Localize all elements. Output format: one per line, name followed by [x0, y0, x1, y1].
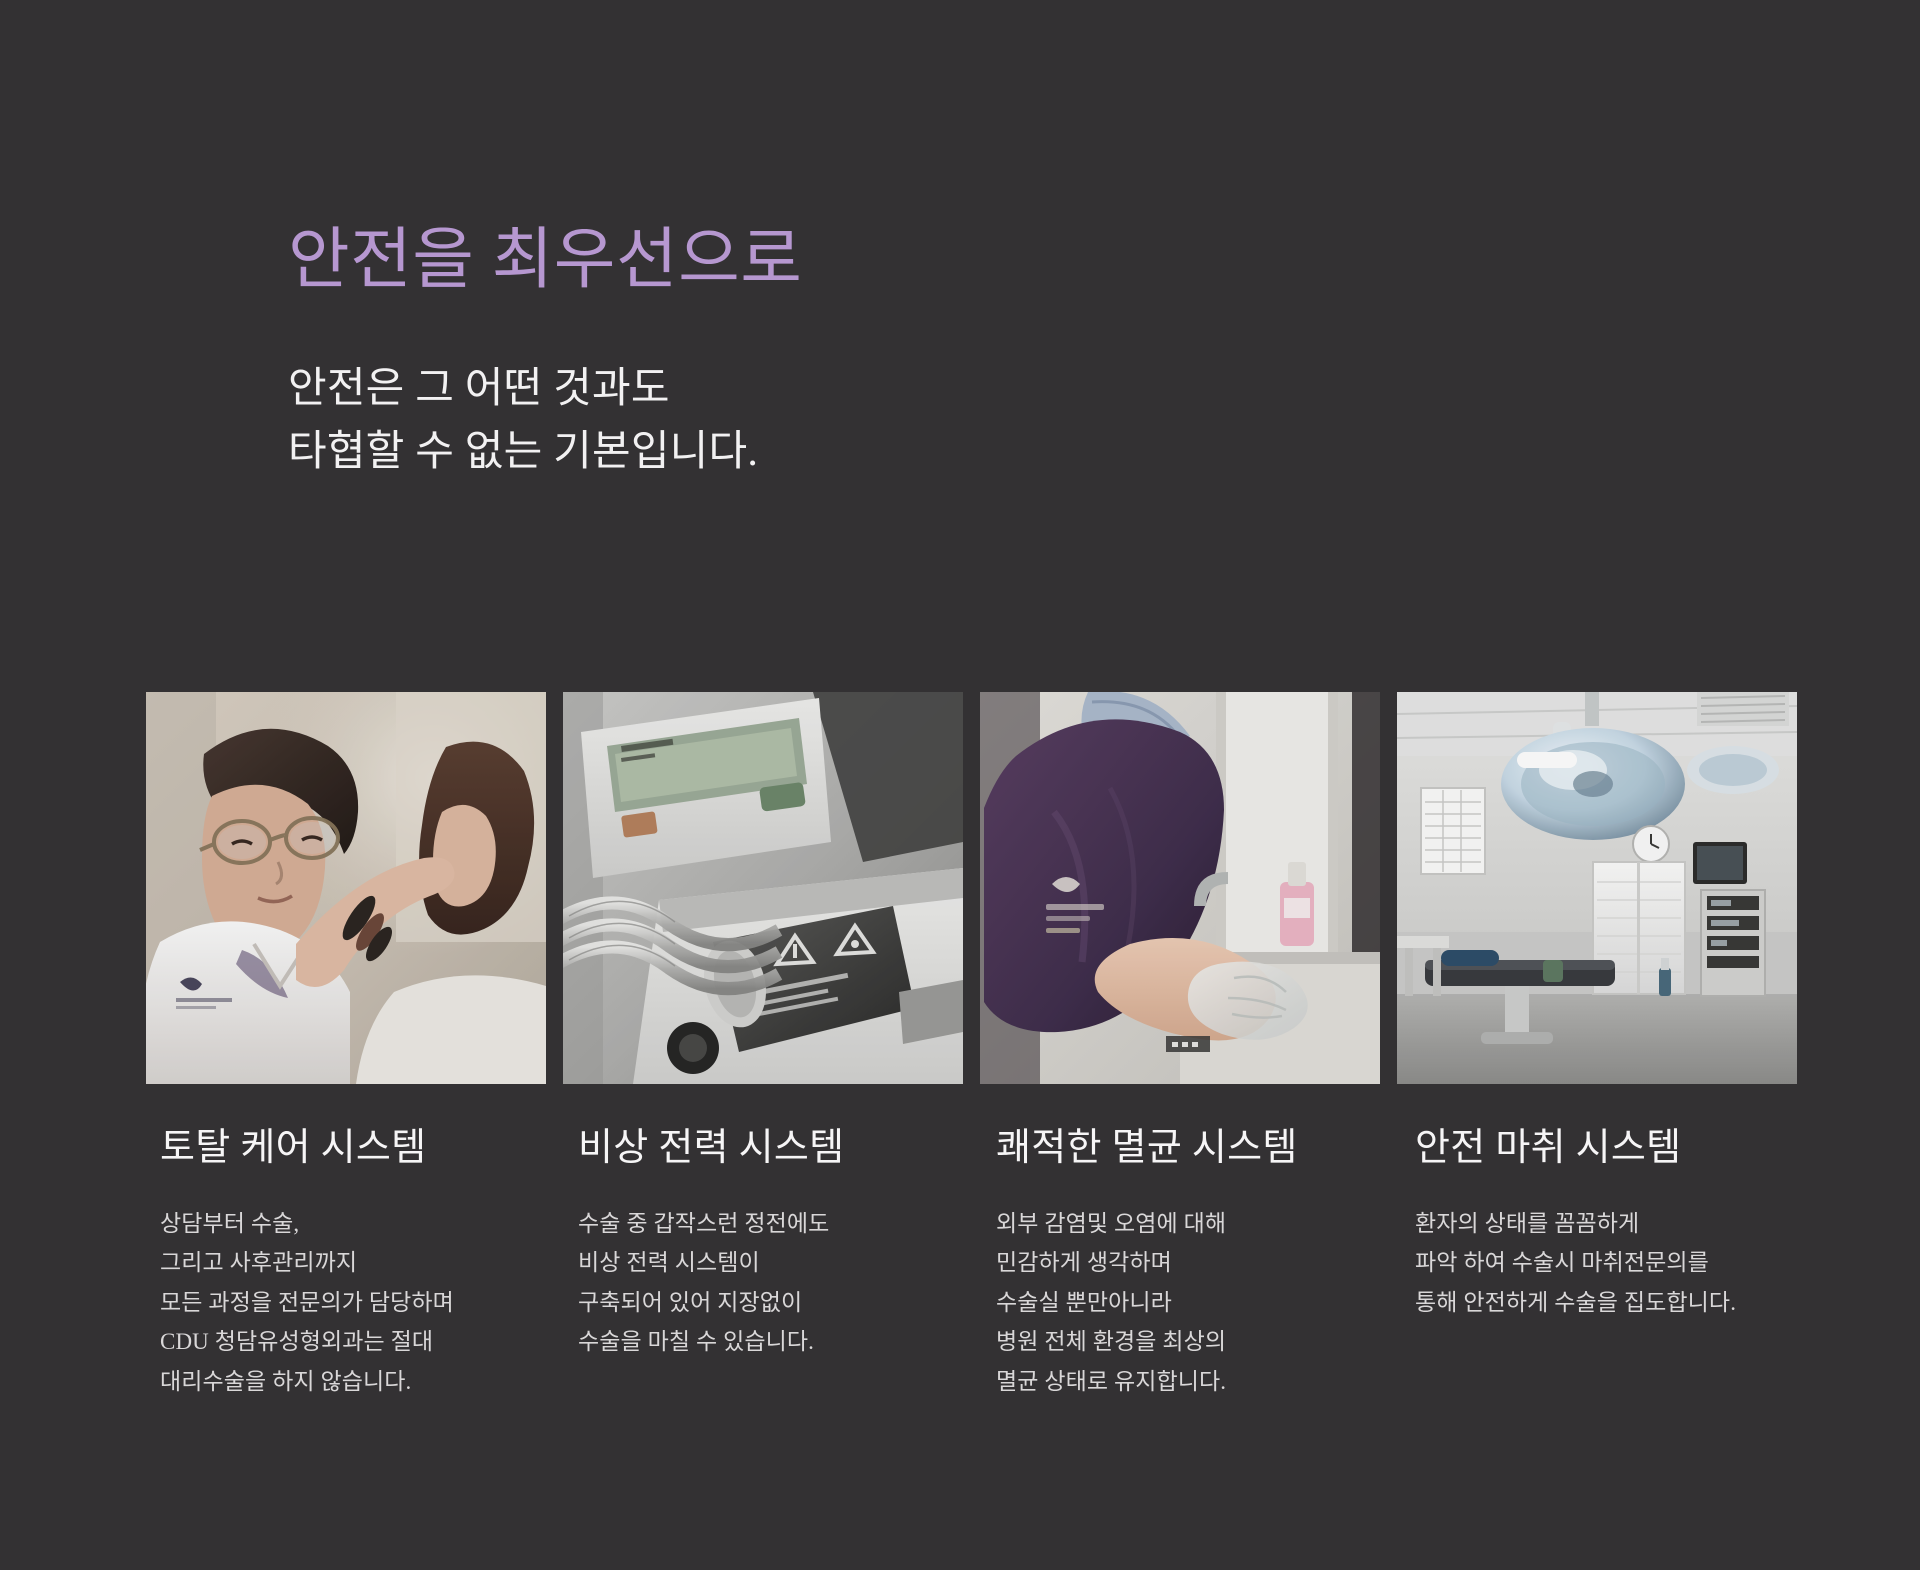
card-body-line: CDU 청담유성형외과는 절대: [160, 1322, 546, 1362]
safety-section-page: 안전을 최우선으로 안전은 그 어떤 것과도 타협할 수 없는 기본입니다.: [0, 0, 1920, 1570]
doctor-consultation-photo: [146, 692, 546, 1084]
card-title: 안전 마취 시스템: [1397, 1126, 1797, 1172]
card-body: 외부 감염및 오염에 대해 민감하게 생각하며 수술실 뿐만아니라 병원 전체 …: [980, 1204, 1380, 1402]
card-body-line: 민감하게 생각하며: [996, 1243, 1380, 1283]
card-body-line: 병원 전체 환경을 최상의: [996, 1322, 1380, 1362]
page-subtitle-line-1: 안전은 그 어떤 것과도: [288, 358, 1188, 420]
card-body-line: 상담부터 수술,: [160, 1204, 546, 1244]
page-subtitle-line-2: 타협할 수 없는 기본입니다.: [288, 421, 1188, 483]
card-body-line: 파악 하여 수술시 마취전문의를: [1415, 1243, 1797, 1283]
card-body-line: 수술을 마칠 수 있습니다.: [578, 1322, 963, 1362]
card-title: 쾌적한 멸균 시스템: [980, 1126, 1380, 1172]
page-title: 안전을 최우선으로: [288, 222, 1188, 298]
surgeon-handwashing-photo: [980, 692, 1380, 1084]
emergency-power-equipment-photo: [563, 692, 963, 1084]
operating-room-photo: [1397, 692, 1797, 1084]
card-body-line: 비상 전력 시스템이: [578, 1243, 963, 1283]
feature-card-total-care[interactable]: 토탈 케어 시스템 상담부터 수술, 그리고 사후관리까지 모든 과정을 전문의…: [146, 692, 546, 1401]
card-body-line: 통해 안전하게 수술을 집도합니다.: [1415, 1283, 1797, 1323]
card-body-line: 대리수술을 하지 않습니다.: [160, 1362, 546, 1402]
feature-card-anesthesia[interactable]: 안전 마취 시스템 환자의 상태를 꼼꼼하게 파악 하여 수술시 마취전문의를 …: [1397, 692, 1797, 1401]
card-body: 환자의 상태를 꼼꼼하게 파악 하여 수술시 마취전문의를 통해 안전하게 수술…: [1397, 1204, 1797, 1323]
card-body-line: 환자의 상태를 꼼꼼하게: [1415, 1204, 1797, 1244]
feature-card-emergency-power[interactable]: 비상 전력 시스템 수술 중 갑작스런 정전에도 비상 전력 시스템이 구축되어…: [563, 692, 963, 1401]
header-block: 안전을 최우선으로 안전은 그 어떤 것과도 타협할 수 없는 기본입니다.: [288, 222, 1188, 483]
card-body-line: 모든 과정을 전문의가 담당하며: [160, 1283, 546, 1323]
page-subtitle: 안전은 그 어떤 것과도 타협할 수 없는 기본입니다.: [288, 358, 1188, 482]
card-body: 수술 중 갑작스런 정전에도 비상 전력 시스템이 구축되어 있어 지장없이 수…: [563, 1204, 963, 1362]
feature-card-list: 토탈 케어 시스템 상담부터 수술, 그리고 사후관리까지 모든 과정을 전문의…: [146, 692, 1806, 1401]
card-title: 토탈 케어 시스템: [146, 1126, 546, 1172]
card-body-line: 수술실 뿐만아니라: [996, 1283, 1380, 1323]
card-body-line: 외부 감염및 오염에 대해: [996, 1204, 1380, 1244]
card-body-line: 그리고 사후관리까지: [160, 1243, 546, 1283]
card-body-line: 멸균 상태로 유지합니다.: [996, 1362, 1380, 1402]
feature-card-sterilization[interactable]: 쾌적한 멸균 시스템 외부 감염및 오염에 대해 민감하게 생각하며 수술실 뿐…: [980, 692, 1380, 1401]
card-body-line: 수술 중 갑작스런 정전에도: [578, 1204, 963, 1244]
card-body: 상담부터 수술, 그리고 사후관리까지 모든 과정을 전문의가 담당하며 CDU…: [146, 1204, 546, 1402]
card-body-line: 구축되어 있어 지장없이: [578, 1283, 963, 1323]
card-title: 비상 전력 시스템: [563, 1126, 963, 1172]
